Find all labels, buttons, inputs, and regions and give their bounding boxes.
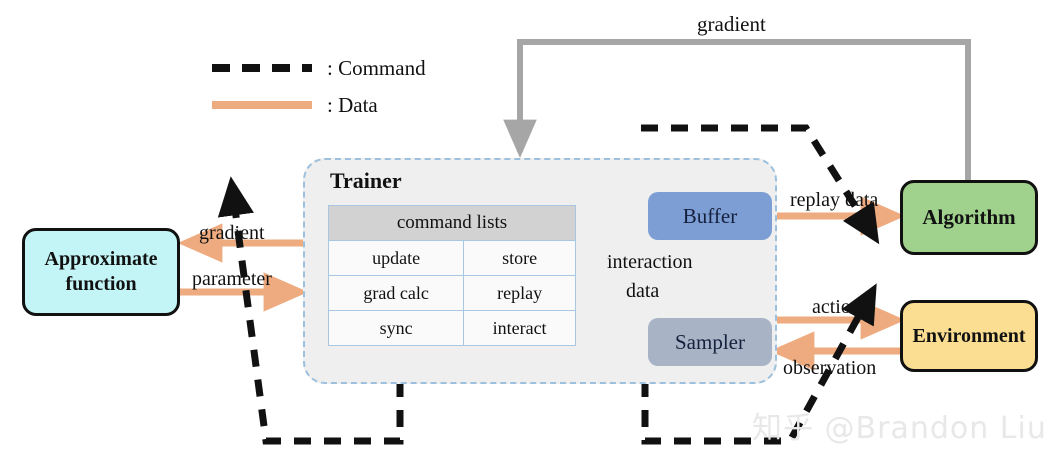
trainer-title: Trainer bbox=[330, 168, 402, 194]
legend-label-command: : Command bbox=[327, 56, 426, 81]
algorithm-label: Algorithm bbox=[922, 205, 1015, 230]
cell-store[interactable]: store bbox=[464, 241, 576, 276]
edge-label-interaction-data-line2: data bbox=[626, 280, 659, 303]
edge-label-action: action bbox=[812, 296, 861, 319]
table-row: grad calc replay bbox=[329, 276, 576, 311]
table-row: sync interact bbox=[329, 311, 576, 346]
command-lists-header: command lists bbox=[329, 206, 576, 241]
node-environment[interactable]: Environment bbox=[900, 300, 1038, 372]
command-lists-table: command lists update store grad calc rep… bbox=[328, 205, 576, 346]
edge-label-replay-data: replay data bbox=[790, 189, 878, 212]
table-row: update store bbox=[329, 241, 576, 276]
cell-grad-calc[interactable]: grad calc bbox=[329, 276, 464, 311]
table-row-header: command lists bbox=[329, 206, 576, 241]
edge-label-gradient-top: gradient bbox=[697, 12, 766, 37]
node-algorithm[interactable]: Algorithm bbox=[900, 180, 1038, 255]
cell-update[interactable]: update bbox=[329, 241, 464, 276]
edge-label-gradient-left: gradient bbox=[199, 222, 265, 245]
watermark: 知乎 @Brandon Liu bbox=[752, 403, 1047, 447]
edge-label-interaction-data-line1: interaction bbox=[607, 251, 693, 274]
cell-replay[interactable]: replay bbox=[464, 276, 576, 311]
buffer-label: Buffer bbox=[683, 204, 737, 229]
legend-label-data: : Data bbox=[327, 93, 378, 118]
cell-interact[interactable]: interact bbox=[464, 311, 576, 346]
diagram-canvas: : Command : Data Trainer command lists u… bbox=[0, 0, 1061, 459]
node-approximate-function[interactable]: Approximate function bbox=[22, 228, 180, 316]
edge-label-parameter: parameter bbox=[192, 268, 272, 291]
environment-label: Environment bbox=[913, 325, 1026, 348]
node-buffer[interactable]: Buffer bbox=[648, 192, 772, 240]
approximate-function-label-line2: function bbox=[65, 272, 136, 297]
sampler-label: Sampler bbox=[675, 330, 745, 355]
cell-sync[interactable]: sync bbox=[329, 311, 464, 346]
edge-label-observation: observation bbox=[783, 357, 876, 380]
node-sampler[interactable]: Sampler bbox=[648, 318, 772, 366]
approximate-function-label-line1: Approximate bbox=[45, 247, 158, 272]
